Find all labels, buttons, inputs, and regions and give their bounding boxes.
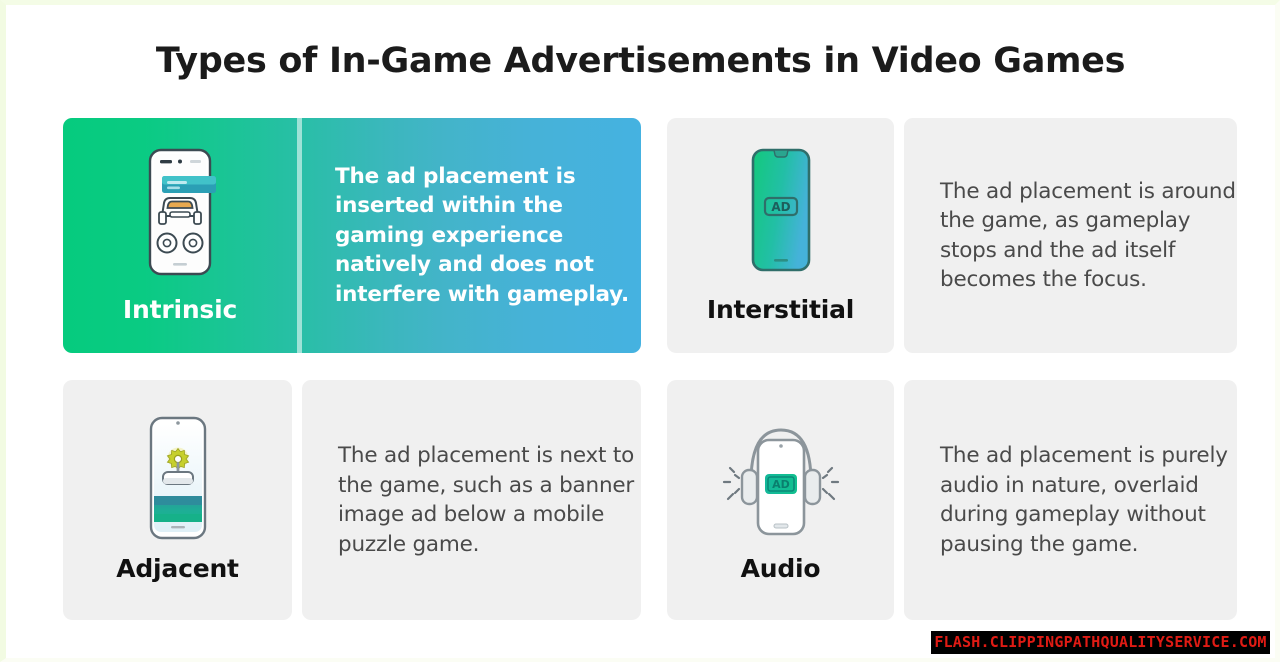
card-intrinsic-icon-panel: Intrinsic bbox=[63, 118, 297, 353]
card-adjacent-label: Adjacent bbox=[63, 554, 292, 583]
card-adjacent-description: The ad placement is next to the game, su… bbox=[338, 441, 641, 559]
card-interstitial-icon-panel: AD Interstitial bbox=[667, 118, 894, 353]
card-intrinsic[interactable]: Intrinsic The ad placement is inserted w… bbox=[63, 118, 641, 353]
card-interstitial-label: Interstitial bbox=[667, 295, 894, 324]
card-intrinsic-label: Intrinsic bbox=[63, 295, 297, 324]
card-audio-icon-panel: AD bbox=[667, 380, 894, 620]
card-divider bbox=[297, 118, 302, 353]
phone-fullscreen-ad-icon: AD bbox=[750, 148, 812, 277]
card-adjacent[interactable]: Adjacent The ad placement is next to the… bbox=[63, 380, 641, 620]
watermark: FLASH.CLIPPINGPATHQUALITYSERVICE.COM bbox=[931, 631, 1270, 654]
ad-types-grid: Intrinsic The ad placement is inserted w… bbox=[63, 118, 1237, 620]
infographic-page: Types of In-Game Advertisements in Video… bbox=[0, 0, 1280, 662]
svg-text:AD: AD bbox=[772, 478, 790, 491]
card-interstitial-text-panel: The ad placement is around the game, as … bbox=[904, 118, 1237, 353]
headphones-phone-audio-ad-icon: AD bbox=[718, 416, 844, 545]
card-interstitial-description: The ad placement is around the game, as … bbox=[940, 177, 1237, 295]
card-intrinsic-text-panel: The ad placement is inserted within the … bbox=[297, 118, 641, 353]
page-title: Types of In-Game Advertisements in Video… bbox=[6, 41, 1275, 81]
card-audio[interactable]: AD bbox=[667, 380, 1237, 620]
card-adjacent-text-panel: The ad placement is next to the game, su… bbox=[302, 380, 641, 620]
svg-text:AD: AD bbox=[771, 200, 790, 214]
infographic-canvas: Types of In-Game Advertisements in Video… bbox=[6, 5, 1275, 658]
phone-racing-game-with-banner-ad-icon bbox=[140, 148, 220, 281]
card-intrinsic-description: The ad placement is inserted within the … bbox=[335, 162, 641, 310]
card-audio-label: Audio bbox=[667, 554, 894, 583]
card-interstitial[interactable]: AD Interstitial The ad placement is arou… bbox=[667, 118, 1237, 353]
phone-puzzle-game-with-bottom-banner-icon bbox=[145, 416, 211, 545]
card-audio-description: The ad placement is purely audio in natu… bbox=[940, 441, 1237, 559]
card-audio-text-panel: The ad placement is purely audio in natu… bbox=[904, 380, 1237, 620]
card-adjacent-icon-panel: Adjacent bbox=[63, 380, 292, 620]
